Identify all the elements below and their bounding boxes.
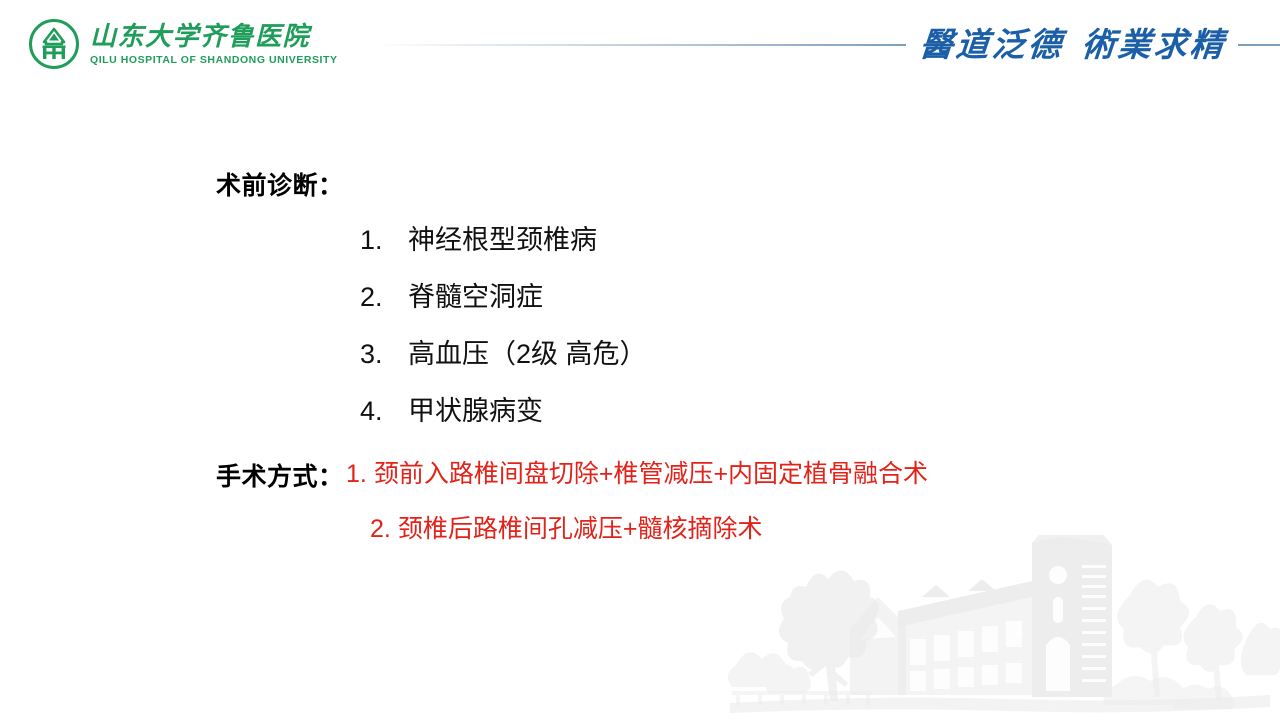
- hospital-motto: 醫道泛德 術業求精: [905, 14, 1241, 76]
- hospital-logo-text: 山东大学齐鲁医院 QILU HOSPITAL OF SHANDONG UNIVE…: [90, 21, 338, 67]
- slide-canvas: 山东大学齐鲁医院 QILU HOSPITAL OF SHANDONG UNIVE…: [0, 0, 1280, 720]
- header-divider-right: [1238, 44, 1280, 46]
- list-item: 1. 颈前入路椎间盘切除+椎管减压+内固定植骨融合术: [346, 454, 928, 509]
- header-divider-left: [382, 44, 906, 46]
- preoperative-diagnosis-list: 1. 神经根型颈椎病 2. 脊髓空洞症 3. 高血压（2级 高危） 4. 甲状腺…: [360, 218, 647, 446]
- list-item-number: 1.: [360, 225, 408, 256]
- list-item-number: 2.: [370, 515, 391, 544]
- list-item-number: 4.: [360, 396, 408, 427]
- preoperative-diagnosis-label: 术前诊断：: [216, 166, 344, 202]
- surgical-method-list: 1. 颈前入路椎间盘切除+椎管减压+内固定植骨融合术 2. 颈椎后路椎间孔减压+…: [346, 454, 928, 564]
- list-item: 3. 高血压（2级 高危）: [360, 332, 647, 389]
- list-item-label: 颈前入路椎间盘切除+椎管减压+内固定植骨融合术: [374, 454, 928, 490]
- qilu-hospital-emblem-icon: [28, 18, 80, 70]
- hospital-name-cn: 山东大学齐鲁医院: [90, 23, 338, 51]
- list-item-number: 2.: [360, 282, 408, 313]
- list-item-label: 脊髓空洞症: [408, 275, 543, 314]
- list-item-label: 甲状腺病变: [408, 389, 543, 428]
- list-item-number: 3.: [360, 339, 408, 370]
- list-item-label: 神经根型颈椎病: [408, 218, 597, 257]
- slide-body: 术前诊断： 1. 神经根型颈椎病 2. 脊髓空洞症 3. 高血压（2级 高危） …: [0, 92, 1280, 720]
- list-item-number: 1.: [346, 460, 367, 489]
- list-item-label: 颈椎后路椎间孔减压+髓核摘除术: [398, 509, 763, 545]
- list-item: 1. 神经根型颈椎病: [360, 218, 647, 275]
- slide-header: 山东大学齐鲁医院 QILU HOSPITAL OF SHANDONG UNIVE…: [0, 0, 1280, 92]
- list-item: 2. 脊髓空洞症: [360, 275, 647, 332]
- hospital-logo: 山东大学齐鲁医院 QILU HOSPITAL OF SHANDONG UNIVE…: [28, 18, 338, 70]
- list-item: 4. 甲状腺病变: [360, 389, 647, 446]
- motto-phrase-2: 術業求精: [1080, 25, 1227, 65]
- hospital-name-en: QILU HOSPITAL OF SHANDONG UNIVERSITY: [90, 53, 338, 67]
- list-item: 2. 颈椎后路椎间孔减压+髓核摘除术: [346, 509, 928, 564]
- motto-phrase-1: 醫道泛德: [918, 25, 1065, 65]
- list-item-label: 高血压（2级 高危）: [408, 332, 647, 371]
- surgical-method-label: 手术方式：: [216, 457, 344, 493]
